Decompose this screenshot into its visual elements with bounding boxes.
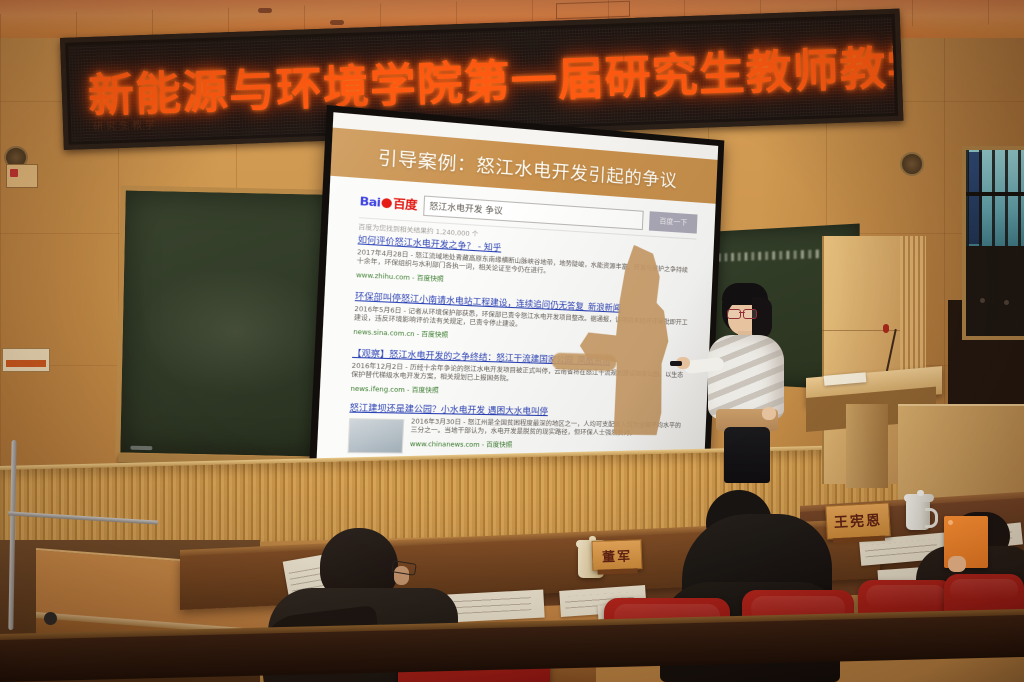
chalk-eraser-icon bbox=[130, 446, 152, 450]
nameplate-text: 董军 bbox=[602, 545, 633, 565]
window-bars-icon bbox=[966, 150, 1024, 246]
baidu-logo: Bai 百度 bbox=[359, 192, 417, 213]
projection-screen: 引导案例：怒江水电开发引起的争议 Bai 百度 怒江水电开发 争议 百度一下 bbox=[309, 105, 724, 472]
led-banner-text: 新能源与环境学院第一届研究生教师教学竞赛 bbox=[87, 27, 895, 126]
nameplate-card: 董军 bbox=[591, 539, 642, 571]
mug-knob bbox=[917, 490, 924, 496]
microphone-icon bbox=[883, 324, 889, 333]
presenter-sweater-stripes bbox=[708, 335, 784, 419]
search-button-label: 百度一下 bbox=[659, 216, 687, 228]
wall-fastener-icon bbox=[1004, 300, 1009, 305]
baidu-logo-cn: 百度 bbox=[393, 194, 418, 213]
result-thumbnail bbox=[347, 418, 404, 453]
ceiling-fixture-icon bbox=[330, 20, 344, 25]
slide-body-screenshot: Bai 百度 怒江水电开发 争议 百度一下 百度为您找到相关结果约 1,240,… bbox=[316, 176, 715, 466]
nameplate-text: 王宪恩 bbox=[834, 510, 883, 532]
judge-hand bbox=[948, 556, 966, 572]
search-query-text: 怒江水电开发 争议 bbox=[429, 200, 503, 217]
fire-alarm-panel[interactable] bbox=[6, 164, 38, 188]
window bbox=[962, 146, 1024, 340]
presentation-slide: 引导案例：怒江水电开发引起的争议 Bai 百度 怒江水电开发 争议 百度一下 bbox=[316, 112, 718, 466]
window-mullion bbox=[966, 192, 1024, 196]
ceiling-vent bbox=[556, 1, 630, 20]
wall-speaker-icon bbox=[900, 152, 924, 176]
presenter-hand-right bbox=[762, 407, 776, 420]
presenter bbox=[700, 283, 796, 481]
baidu-logo-text: Bai bbox=[359, 194, 381, 210]
window-lower-panel bbox=[966, 246, 1024, 336]
ceiling-fixture-icon bbox=[258, 8, 272, 13]
lecture-hall-photo: 研究生教学 新能源与环境学院第一届研究生教师教学竞赛 引导案例：怒江水电开发引起… bbox=[0, 0, 1024, 682]
presenter-shadow-arm bbox=[552, 353, 617, 372]
result-url[interactable]: www.chinanews.com - 百度快照 bbox=[410, 439, 684, 451]
search-button[interactable]: 百度一下 bbox=[649, 211, 698, 233]
stage-caster-icon bbox=[44, 612, 57, 625]
presenter-trousers bbox=[724, 427, 770, 483]
glasses-icon bbox=[727, 309, 757, 317]
wall-fastener-icon bbox=[980, 298, 985, 303]
presenter-remote-icon[interactable] bbox=[670, 361, 682, 366]
paw-icon bbox=[381, 197, 392, 207]
lectern-leg bbox=[846, 404, 888, 488]
emergency-box[interactable] bbox=[2, 348, 50, 372]
scoring-sheet[interactable] bbox=[447, 590, 544, 623]
